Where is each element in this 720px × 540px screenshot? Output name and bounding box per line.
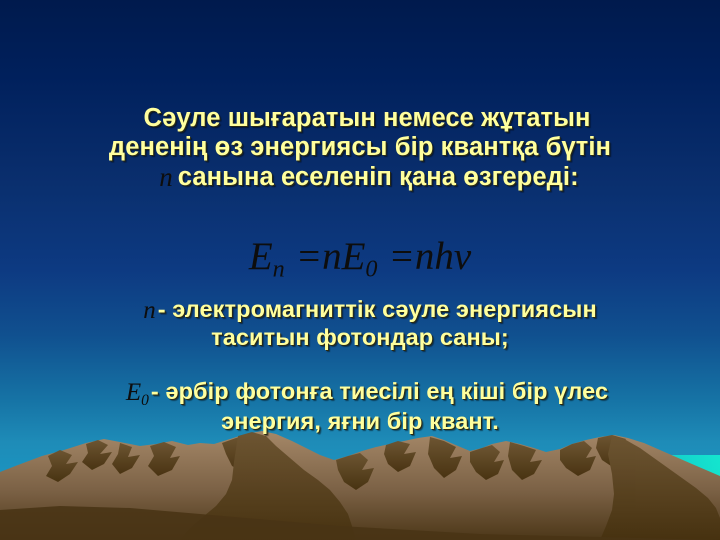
- note-paragraph-e0: E0- әрбір фотонға тиесілі ең кіші бір үл…: [0, 378, 720, 435]
- variable-n-note: n: [143, 297, 158, 325]
- title-paragraph: Сәуле шығаратын немесе жұтатын дененің ө…: [0, 104, 720, 192]
- note-1-line-1: n- электромагниттік сәуле энергиясын: [0, 296, 720, 324]
- title-line-3: nсанына еселеніп қана өзгереді:: [0, 161, 720, 192]
- note-paragraph-n: n- электромагниттік сәуле энергиясын тас…: [0, 296, 720, 350]
- title-line-1: Сәуле шығаратын немесе жұтатын: [0, 104, 720, 133]
- formula-mid-base: E: [342, 235, 366, 278]
- note-2-line-1: E0- әрбір фотонға тиесілі ең кіші бір үл…: [0, 378, 720, 408]
- formula-mid-coefficient: n: [322, 235, 342, 278]
- variable-e0-note: E0: [126, 379, 151, 409]
- note-2-line-1-text: - әрбір фотонға тиесілі ең кіші бір үлес: [151, 378, 608, 404]
- formula-lhs-subscript: n: [273, 256, 285, 283]
- formula-rhs: nhν: [415, 235, 471, 278]
- formula-lhs-base: E: [249, 235, 273, 278]
- variable-n-inline: n: [159, 162, 178, 192]
- note-1-line-2: таситын фотондар саны;: [0, 324, 720, 350]
- note-2-line-2: энергия, яғни бір квант.: [0, 408, 720, 434]
- note-1-line-1-text: - электромагниттік сәуле энергиясын: [158, 296, 597, 322]
- variable-e0-base: E: [126, 379, 141, 406]
- formula-equals-1: =: [296, 235, 322, 278]
- formula-mid-subscript: 0: [365, 256, 377, 283]
- formula-energy-quantum: En=nE0=nhν: [0, 234, 720, 284]
- variable-e0-subscript: 0: [141, 392, 149, 409]
- title-line-2: дененің өз энергиясы бір квантқа бүтін: [0, 133, 720, 162]
- title-line-3-text: санына еселеніп қана өзгереді:: [178, 163, 579, 191]
- slide-canvas: Сәуле шығаратын немесе жұтатын дененің ө…: [0, 0, 720, 540]
- formula-equals-2: =: [389, 235, 415, 278]
